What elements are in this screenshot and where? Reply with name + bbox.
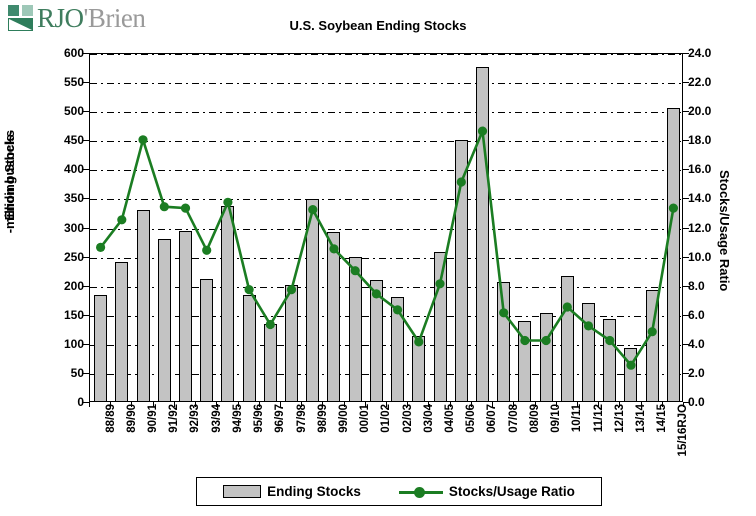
y-axis-right-tickmark: [683, 198, 689, 199]
data-point-marker: [542, 336, 551, 345]
y-axis-left-tick-label: 400: [34, 162, 84, 176]
data-point-marker: [393, 305, 402, 314]
y-axis-left-tickmark: [83, 198, 89, 199]
y-axis-left-tickmark: [83, 111, 89, 112]
y-axis-right-tick-label: 24.0: [688, 46, 734, 60]
y-axis-left-tickmark: [83, 53, 89, 54]
data-point-marker: [202, 246, 211, 255]
y-axis-right-tickmark: [683, 82, 689, 83]
legend-item-ending-stocks[interactable]: Ending Stocks: [223, 484, 361, 499]
x-axis-tick-label: 97/98: [296, 404, 308, 433]
y-axis-left-ticks: 600550500450400350300250200150100500: [34, 0, 84, 516]
y-axis-right-tickmark: [683, 257, 689, 258]
data-point-marker: [138, 135, 147, 144]
y-axis-right-tickmark: [683, 169, 689, 170]
legend-label-ending-stocks: Ending Stocks: [267, 484, 361, 499]
data-point-marker: [223, 198, 232, 207]
x-axis-tick-label: 06/07: [486, 404, 498, 433]
x-axis-tick-label: 98/99: [317, 404, 329, 433]
y-axis-right-tickmark: [683, 228, 689, 229]
x-axis-tick-label: 94/95: [232, 404, 244, 433]
y-axis-left-tick-label: 300: [34, 221, 84, 235]
y-axis-right-tick-label: 0.0: [688, 395, 734, 409]
x-axis-tick-label: 08/09: [529, 404, 541, 433]
x-axis-tick-label: 07/08: [508, 404, 520, 433]
y-axis-right-tickmark: [683, 111, 689, 112]
y-axis-left-tickmark: [83, 257, 89, 258]
chart-legend: Ending Stocks Stocks/Usage Ratio: [196, 477, 602, 506]
y-axis-left-tickmark: [83, 82, 89, 83]
data-point-marker: [457, 177, 466, 186]
data-point-marker: [245, 285, 254, 294]
y-axis-left-title-line2: -million bushels-: [2, 130, 17, 233]
line-series-stocks-usage-ratio: [90, 54, 684, 403]
x-axis-tick-label: 88/89: [105, 404, 117, 433]
x-axis-tick-label: 02/03: [402, 404, 414, 433]
y-axis-right-tickmark: [683, 140, 689, 141]
x-axis-tick-label: 91/92: [168, 404, 180, 433]
y-axis-left-title: Ending Stocks -million bushels-: [2, 130, 36, 350]
data-point-marker: [351, 266, 360, 275]
y-axis-left-tickmark: [83, 373, 89, 374]
x-axis-tick-label: 92/93: [189, 404, 201, 433]
y-axis-left-tickmark: [83, 140, 89, 141]
x-axis-tick-label: 05/06: [465, 404, 477, 433]
y-axis-right-tickmark: [683, 344, 689, 345]
data-point-marker: [329, 244, 338, 253]
data-point-marker: [96, 243, 105, 252]
x-axis-tick-label: 89/90: [126, 404, 138, 433]
y-axis-right-title: Stocks/Usage Ratio: [726, 170, 752, 370]
x-axis-tick-label: 09/10: [550, 404, 562, 433]
y-axis-left-tick-label: 150: [34, 308, 84, 322]
data-point-marker: [181, 204, 190, 213]
legend-bar-swatch-icon: [223, 485, 261, 498]
x-axis-tick-label: 93/94: [211, 404, 223, 433]
y-axis-left-tick-label: 50: [34, 366, 84, 380]
data-point-marker: [499, 308, 508, 317]
x-axis-tick-label: 13/14: [635, 404, 647, 433]
data-point-marker: [584, 321, 593, 330]
y-axis-left-tick-label: 550: [34, 75, 84, 89]
data-point-marker: [266, 320, 275, 329]
y-axis-right-tickmark: [683, 373, 689, 374]
y-axis-left-tick-label: 450: [34, 133, 84, 147]
legend-line-swatch-icon: [399, 485, 443, 498]
x-axis-tick-label: 03/04: [423, 404, 435, 433]
y-axis-right-tick-label: 18.0: [688, 133, 734, 147]
x-axis-tick-label: 04/05: [444, 404, 456, 433]
data-point-marker: [160, 202, 169, 211]
data-point-marker: [605, 336, 614, 345]
y-axis-right-title-text: Stocks/Usage Ratio: [717, 170, 732, 291]
x-axis-tick-label: 14/15: [656, 404, 668, 433]
chart-title: U.S. Soybean Ending Stocks: [0, 18, 756, 33]
x-axis-tick-label: 15/16RJO: [677, 404, 689, 456]
data-point-marker: [648, 327, 657, 336]
data-point-marker: [478, 127, 487, 136]
y-axis-left-tick-label: 100: [34, 337, 84, 351]
legend-item-stocks-usage-ratio[interactable]: Stocks/Usage Ratio: [399, 484, 575, 499]
y-axis-left-tickmark: [83, 315, 89, 316]
x-axis-ticks: 88/8989/9090/9191/9292/9393/9494/9595/96…: [89, 404, 683, 474]
x-axis-tick-label: 96/97: [274, 404, 286, 433]
x-axis-tick-label: 01/02: [380, 404, 392, 433]
data-point-marker: [117, 215, 126, 224]
x-axis-tick-label: 00/01: [359, 404, 371, 433]
y-axis-left-tick-label: 500: [34, 104, 84, 118]
y-axis-left-tick-label: 0: [34, 395, 84, 409]
data-point-marker: [626, 361, 635, 370]
y-axis-right-tickmark: [683, 286, 689, 287]
data-point-marker: [563, 302, 572, 311]
data-point-marker: [669, 204, 678, 213]
x-axis-tick-label: 11/12: [593, 404, 605, 432]
y-axis-left-tickmark: [83, 344, 89, 345]
y-axis-right-tick-label: 20.0: [688, 104, 734, 118]
x-axis-tick-label: 95/96: [253, 404, 265, 433]
data-point-marker: [414, 337, 423, 346]
y-axis-left-tick-label: 350: [34, 191, 84, 205]
y-axis-left-tickmark: [83, 286, 89, 287]
y-axis-left-tick-label: 600: [34, 46, 84, 60]
y-axis-left-tick-label: 200: [34, 279, 84, 293]
x-axis-tick-label: 10/11: [571, 404, 583, 432]
x-axis-tick-label: 99/00: [338, 404, 350, 433]
y-axis-left-tickmark: [83, 228, 89, 229]
data-point-marker: [287, 285, 296, 294]
legend-label-stocks-usage-ratio: Stocks/Usage Ratio: [449, 484, 575, 499]
data-point-marker: [520, 336, 529, 345]
data-point-marker: [372, 289, 381, 298]
y-axis-right-tickmark: [683, 315, 689, 316]
x-axis-tick-label: 90/91: [147, 404, 159, 433]
y-axis-left-tickmark: [83, 169, 89, 170]
x-axis-tick-label: 12/13: [614, 404, 626, 433]
y-axis-left-tick-label: 250: [34, 250, 84, 264]
data-point-marker: [435, 279, 444, 288]
y-axis-right-tickmark: [683, 53, 689, 54]
plot-area: [89, 53, 683, 402]
data-point-marker: [308, 205, 317, 214]
y-axis-right-tick-label: 22.0: [688, 75, 734, 89]
